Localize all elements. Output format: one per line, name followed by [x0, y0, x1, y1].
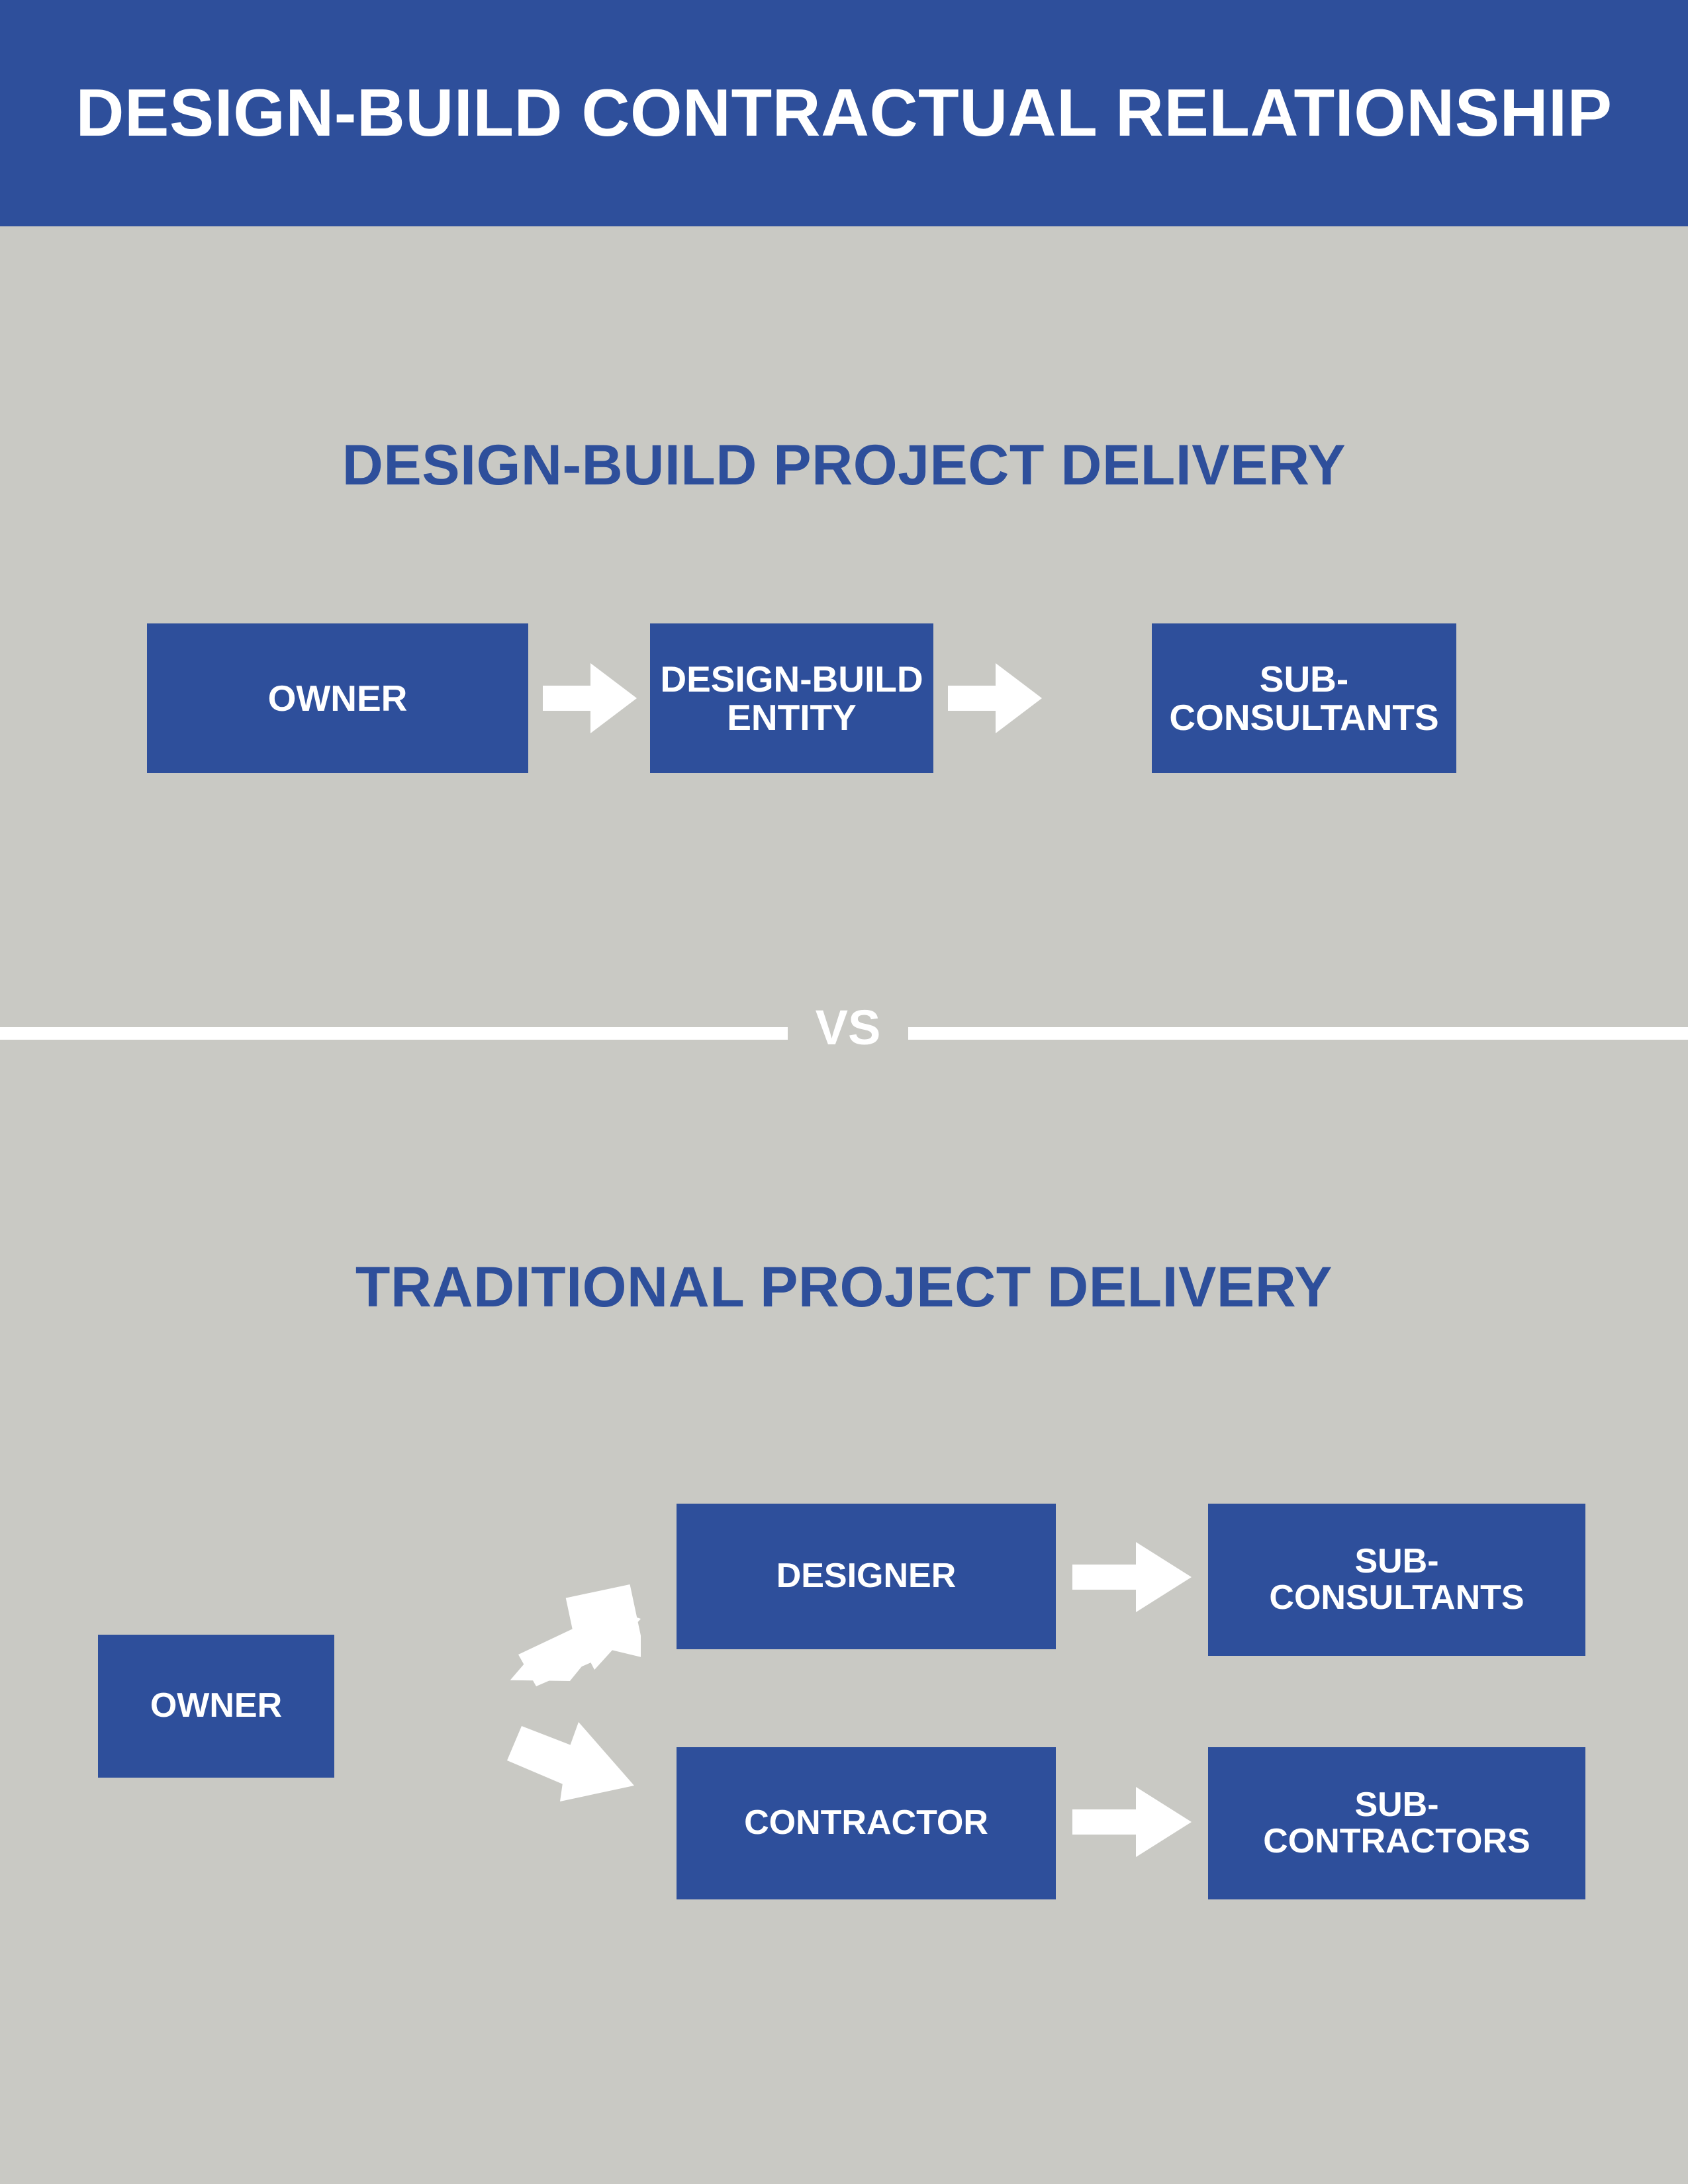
node-label-line2: CONSULTANTS	[1269, 1578, 1524, 1617]
node-label-line1: SUB-	[1354, 1542, 1438, 1580]
traditional-contractor-node[interactable]: CONTRACTOR	[677, 1747, 1056, 1899]
node-label: OWNER	[268, 679, 408, 717]
node-label: DESIGNER	[776, 1558, 957, 1594]
arrow-owner-to-design-build-entity-icon	[543, 663, 637, 733]
node-label: SUB- CONSULTANTS	[1269, 1543, 1524, 1616]
divider-rule-left	[0, 1027, 788, 1040]
node-label: DESIGN-BUILD ENTITY	[660, 660, 923, 737]
design-build-owner-node[interactable]: OWNER	[147, 623, 528, 773]
traditional-sub-contractors-node[interactable]: SUB- CONTRACTORS	[1208, 1747, 1585, 1899]
page-title: DESIGN-BUILD CONTRACTUAL RELATIONSHIP	[76, 80, 1613, 147]
design-build-entity-node[interactable]: DESIGN-BUILD ENTITY	[650, 623, 933, 773]
arrow-entity-to-sub-consultants-icon	[948, 663, 1042, 733]
arrow-contractor-to-sub-contractors-icon	[1072, 1787, 1192, 1857]
node-label: CONTRACTOR	[744, 1805, 988, 1841]
divider-rule-right	[908, 1027, 1688, 1040]
traditional-section-title: TRADITIONAL PROJECT DELIVERY	[0, 1259, 1688, 1316]
node-label: OWNER	[150, 1688, 282, 1724]
node-label-line2: CONTRACTORS	[1263, 1822, 1530, 1860]
arrow-designer-to-sub-consultants-icon	[1072, 1542, 1192, 1612]
design-build-section-title: DESIGN-BUILD PROJECT DELIVERY	[0, 437, 1688, 494]
traditional-sub-consultants-node[interactable]: SUB- CONSULTANTS	[1208, 1504, 1585, 1656]
node-label: SUB- CONTRACTORS	[1263, 1787, 1530, 1860]
vs-label: VS	[805, 1003, 891, 1052]
node-label-line1: SUB-	[1354, 1786, 1438, 1824]
arrow-owner-to-designer-icon	[502, 1567, 641, 1686]
traditional-designer-node[interactable]: DESIGNER	[677, 1504, 1056, 1649]
node-label-line1: SUB-	[1260, 659, 1348, 700]
node-label-line1: DESIGN-BUILD	[660, 659, 923, 700]
header-banner: DESIGN-BUILD CONTRACTUAL RELATIONSHIP	[0, 0, 1688, 226]
vs-divider: VS	[0, 1027, 1688, 1040]
node-label-line2: CONSULTANTS	[1169, 697, 1438, 738]
arrow-owner-to-contractor-icon	[495, 1714, 634, 1833]
design-build-sub-consultants-node[interactable]: SUB- CONSULTANTS	[1152, 623, 1456, 773]
node-label-line2: ENTITY	[727, 697, 857, 738]
traditional-owner-node[interactable]: OWNER	[98, 1635, 334, 1778]
node-label: SUB- CONSULTANTS	[1169, 660, 1438, 737]
